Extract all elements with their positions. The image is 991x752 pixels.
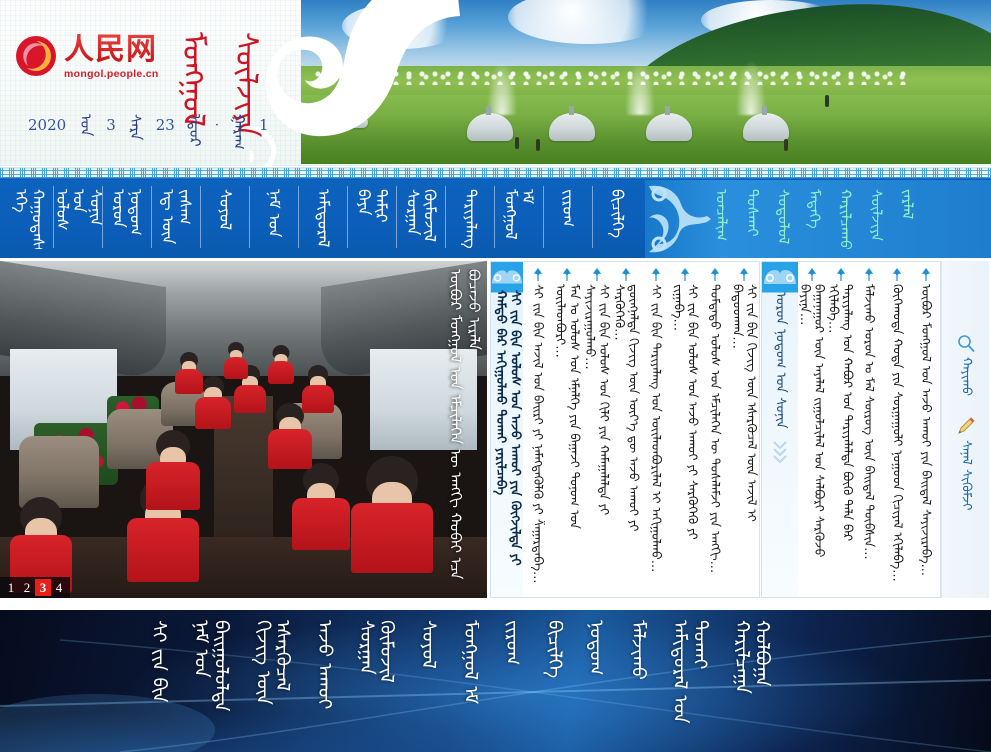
rider [536, 139, 540, 151]
bottom-channel-items: ᠰᠢ ᠵᠢᠨ ᠪᠢᠨᠨᠠᠮ ᠤᠨ ᠪᠠᠢᠭᠤᠯᠤᠯᠲᠠᠬᠢᠵᠢᠭ ᠦᠨ ᠡᠰᠡᠷ… [148, 620, 991, 748]
yurt [342, 113, 368, 128]
logo-mongolian-name: ᠮᠤᠩᠭᠤᠯ ᠰᠦᠯᠵᠢᠶᠡ [175, 32, 281, 94]
nav-item-culture[interactable]: ᠰᠣᠶᠤᠯ [200, 180, 249, 258]
bottom-channel-economy[interactable]: ᠠᠵᠤ ᠠᠬᠤᠢ [314, 620, 334, 709]
news-item-title: ᠰᠢ ᠵᠢᠨ ᠪᠢᠨ ᠲᠠᠷᠢᠶᠠᠯᠠᠩ ᠤᠨ ᠦᠢᠯᠡᠳᠪᠦᠷᠢᠯᠡᠯ ᠢ ᠠ… [649, 284, 663, 572]
rider [784, 139, 788, 151]
news-item[interactable]: ᠥᠪᠥᠷ ᠮᠣᠩᠭᠣᠯ ᠤᠨ ᠠᠵᠤ ᠠᠬᠤᠢ ᠶᠢᠨ ᠪᠠᠢᠳᠠᠯ ᠰᠠᠶᠢᠵ… [912, 262, 940, 597]
person [292, 463, 350, 551]
lead-headline-title: ᠰᠢ ᠵᠢᠨ ᠪᠢᠨ ᠤᠯᠤᠰ ᠤᠨ ᠠᠵᠤ ᠠᠬᠤᠢ ᠶᠢᠨ ᠬᠥᠭᠵᠢᠯᠲᠡ… [493, 290, 522, 590]
nav-item-label: ᠡᠬᠡ ᠬᠠᠭᠤᠳᠠᠰᠤ [12, 189, 46, 249]
search-icon [956, 333, 976, 353]
bullet-arrow-icon [710, 268, 720, 281]
bottom-channel-education[interactable]: ᠰᠤᠷᠭᠠᠨ ᠬᠦᠮᠦᠵᠢᠯ [356, 620, 396, 738]
nav-sub-item-contact[interactable]: ᠬᠠᠷᠢᠯᠴᠠᠬᠤ [829, 189, 860, 251]
carousel-page-4[interactable]: 4 [51, 579, 67, 596]
news-item-title: ᠥᠪᠥᠷ ᠮᠣᠩᠭᠣᠯ ᠤᠨ ᠠᠵᠤ ᠠᠬᠤᠢ ᠶᠢᠨ ᠪᠠᠢᠳᠠᠯ ᠰᠠᠶᠢᠵ… [919, 284, 933, 576]
nav-item-education[interactable]: ᠰᠤᠷᠭᠠᠨ ᠬᠦᠮᠦᠵᠢᠯ [396, 180, 445, 258]
more-link[interactable] [771, 429, 789, 470]
person [224, 342, 248, 380]
news-item[interactable]: ᠰᠢ ᠵᠢᠨ ᠪᠢᠨ ᠤᠯᠤᠰ ᠤᠨ ᠠᠵᠤ ᠠᠬᠤᠢ ᠶᠢ ᠰᠡᠷᠭᠦᠭᠡᠬᠦ… [671, 262, 700, 597]
bottom-channel-about-life[interactable]: ᠠᠮᠢᠳᠤᠷᠠᠯ ᠤᠨ ᠲᠤᠬᠠᠢ [669, 620, 709, 738]
news-item-title: ᠰᠢ ᠵᠢᠨ ᠪᠢᠨ ᠬᠢᠵᠢᠭ ᠦᠨ ᠡᠰᠡᠷᠭᠦᠴᠡᠯ ᠦᠨ ᠠᠵᠢᠯ ᠢ … [730, 284, 758, 584]
logo-chinese-name: 人民网 [64, 34, 159, 66]
bullet-arrow-icon [533, 268, 543, 281]
meander-pattern [0, 168, 991, 178]
person [268, 345, 294, 385]
utility-rail: ᠬᠠᠶᠢᠬᠤ ᠰᠠᠨᠠᠯ ᠰᠢᠭᠦᠮᠵᠢ [941, 261, 989, 598]
news-item[interactable]: ᠰᠢ ᠵᠢᠨ ᠪᠢᠨ ᠠᠵᠢᠯ ᠤᠨ ᠪᠠᠢᠷᠢ ᠶᠢ ᠨᠡᠮᠡᠭᠳᠡᠭᠦᠯᠬᠦ… [523, 262, 552, 597]
bullet-arrow-icon [592, 268, 602, 281]
carousel-pagination: 1234 [0, 577, 70, 598]
bullet-arrow-icon [680, 268, 690, 281]
nav-item-sports[interactable]: ᠪᠡᠶᠡ ᠲᠠᠮᠢᠷ [347, 180, 396, 258]
bottom-channel-mongolian-medicine[interactable]: ᠮᠣᠩᠭᠣᠯ ᠡᠮ [459, 620, 479, 704]
date-day: 23 [156, 116, 175, 134]
feedback-label: ᠰᠠᠨᠠᠯ ᠰᠢᠭᠦᠮᠵᠢ [958, 440, 972, 511]
nav-item-label: ᠮᠣᠩᠭᠣᠯ ᠡᠮ [502, 189, 536, 249]
nav-sub-item-network[interactable]: ᠰᠦᠯᠵᠢᠶᠡ [860, 189, 891, 251]
nav-item-photos[interactable]: ᠵᠢᠷᠤᠭ [543, 180, 592, 258]
bottom-channel-video[interactable]: ᠪᠢᠴᠢᠯᠭᠡ [543, 620, 563, 678]
bottom-channel-epidemic-control[interactable]: ᠬᠢᠵᠢᠭ ᠦᠨ ᠡᠰᠡᠷᠭᠦᠴᠡᠯ [252, 620, 292, 738]
nav-primary-items: ᠡᠬᠡ ᠬᠠᠭᠤᠳᠠᠰᠤᠤᠯᠤᠰ ᠤᠨ ᠰᠤᠨᠢᠨᠣᠷᠤᠨ ᠨᠤᠲᠤᠭᠡᠳ᠋ ᠦ… [0, 180, 641, 258]
news-item[interactable]: ᠪᠠᠭᠠᠨᠠᠭᠤᠷ ᠦᠨ ᠠᠶᠠᠯᠠᠯ ᠵᠢᠭᠤᠯᠴᠢᠯᠠᠯ ᠤᠨ ᠰᠠᠯᠪᠤᠷ… [798, 262, 826, 597]
person [351, 456, 433, 572]
bullet-arrow-icon [621, 268, 631, 281]
nav-item-life[interactable]: ᠠᠮᠢᠳᠤᠷᠠᠯ [298, 180, 347, 258]
news-item[interactable]: ᠰᠢ ᠵᠢᠨ ᠪᠢᠨ ᠲᠠᠷᠢᠶᠠᠯᠠᠩ ᠤᠨ ᠦᠢᠯᠡᠳᠪᠦᠷᠢᠯᠡᠯ ᠢ ᠠ… [641, 262, 670, 597]
news-item[interactable]: ᠰᠢ ᠵᠢᠨ ᠪᠢᠨ ᠬᠢᠵᠢᠭ ᠦᠨ ᠡᠰᠡᠷᠭᠦᠴᠡᠯ ᠦᠨ ᠠᠵᠢᠯ ᠢ … [730, 262, 759, 597]
news-item[interactable]: ᠰᠢ ᠵᠢᠨ ᠪᠢᠨ ᠤᠯᠤᠰ ᠤᠨ ᠬᠢᠯᠢ ᠶᠢᠨ ᠬᠠᠮᠠᠭᠠᠯᠠᠯᠲᠠ … [582, 262, 611, 597]
smoke [625, 61, 655, 115]
bottom-channel-party-building[interactable]: ᠨᠠᠮ ᠤᠨ ᠪᠠᠢᠭᠤᠯᠤᠯᠲᠠ [190, 620, 230, 738]
news-item-title: ᠰᠢ ᠵᠢᠨ ᠪᠢᠨ ᠤᠯᠤᠰ ᠤᠨ ᠠᠵᠤ ᠠᠬᠤᠢ ᠶᠢ ᠰᠡᠷᠭᠦᠭᠡᠬᠦ… [671, 284, 699, 584]
nav-item-video[interactable]: ᠪᠢᠴᠢᠯᠭᠡ [592, 180, 641, 258]
people-daily-logo-icon [14, 34, 58, 78]
site-header: 人民网 mongol.people.cn ᠮᠤᠩᠭᠤᠯ ᠰᠦᠯᠵᠢᠶᠡ 2020… [0, 0, 991, 166]
page-root: 人民网 mongol.people.cn ᠮᠤᠩᠭᠤᠯ ᠰᠦᠯᠵᠢᠶᠡ 2020… [0, 0, 991, 752]
nav-item-local[interactable]: ᠣᠷᠤᠨ ᠨᠤᠲᠤᠭ [102, 180, 151, 258]
search-label: ᠬᠠᠶᠢᠬᠤ [958, 357, 972, 396]
bottom-channel-culture[interactable]: ᠰᠣᠶᠤᠯ [418, 620, 438, 669]
cloud-motif-icon [492, 268, 522, 284]
cloud-motif-icon [764, 268, 796, 284]
bottom-channel-photo[interactable]: ᠵᠢᠷᠤᠭ [501, 620, 521, 665]
pencil-icon [956, 416, 976, 436]
news-item-title: ᠳ᠋ᠦᠩᠨᠡᠯᠲᠡ ᠬᠢᠵᠢᠭ ᠦᠨ ᠦᠶ᠎ᠡ ᠳᠦ ᠠᠵᠤ ᠠᠬᠤᠢ ᠶᠢ ᠰ… [612, 284, 640, 584]
date-weekday-unit: ᠭᠠᠷᠠᠭ [226, 114, 252, 136]
bullet-arrow-icon [651, 268, 661, 281]
news-item[interactable]: ᠮᠠᠨ ᠤ ᠤᠯᠤᠰ ᠤᠨ ᠡᠮᠨᠡᠯᠭᠡ ᠶᠢᠨ ᠪᠠᠭᠠᠵᠢ ᠲᠤᠨᠤᠭ ᠤ… [553, 262, 582, 597]
carousel-photo-medical-team-bus [0, 261, 487, 598]
date-separator: · [215, 118, 219, 133]
site-logo[interactable]: 人民网 mongol.people.cn ᠮᠤᠩᠭᠤᠯ ᠰᠦᠯᠵᠢᠶᠡ [14, 34, 281, 94]
nav-sub-item-special[interactable]: ᠲᠤᠰᠬᠠᠢ [736, 189, 767, 251]
nav-item-label: ᠠᠮᠢᠳᠤᠷᠠᠯ [314, 189, 331, 247]
bottom-channel-banner: ᠰᠢ ᠵᠢᠨ ᠪᠢᠨᠨᠠᠮ ᠤᠨ ᠪᠠᠢᠭᠤᠯᠤᠯᠲᠠᠬᠢᠵᠢᠭ ᠦᠨ ᠡᠰᠡᠷ… [0, 610, 991, 752]
main-navigation: ᠡᠬᠡ ᠬᠠᠭᠤᠳᠠᠰᠤᠤᠯᠤᠰ ᠤᠨ ᠰᠤᠨᠢᠨᠣᠷᠤᠨ ᠨᠤᠲᠤᠭᠡᠳ᠋ ᠦ… [0, 180, 991, 258]
nav-sub-item-label: ᠲᠤᠰᠬᠠᠢ [744, 189, 760, 249]
bullet-arrow-icon [807, 268, 817, 281]
nav-item-national-news[interactable]: ᠤᠯᠤᠰ ᠤᠨ ᠰᠤᠨᠢᠨ [53, 180, 102, 258]
nav-item-label: ᠵᠢᠷᠤᠭ [559, 189, 576, 227]
person [302, 365, 334, 413]
rider [515, 137, 519, 149]
nav-sub-item-label: ᠰᠦᠯᠵᠢᠶᠡ [868, 189, 884, 249]
news-item-title: ᠳᠤᠮᠳᠠᠳᠤ ᠤᠯᠤᠰ ᠤᠨ ᠡᠮᠴᠢᠯᠡᠭᠡᠨ ᠦ ᠲᠤᠰᠠᠯᠠᠮᠵᠢ ᠶᠢ… [708, 284, 722, 573]
nav-item-label: ᠨᠠᠮ ᠤᠨ [265, 189, 282, 238]
bottom-channel-xi-jinping[interactable]: ᠰᠢ ᠵᠢᠨ ᠪᠢᠨ [148, 620, 168, 703]
news-item[interactable]: ᠳᠤᠮᠳᠠᠳᠤ ᠤᠯᠤᠰ ᠤᠨ ᠡᠮᠴᠢᠯᠡᠭᠡᠨ ᠦ ᠲᠤᠰᠠᠯᠠᠮᠵᠢ ᠶᠢ… [700, 262, 729, 597]
section-header-local-news: ᠣᠷᠤᠨ ᠨᠤᠲᠤᠭ ᠤᠨ ᠰᠤᠨᠢᠨ [762, 262, 798, 597]
news-item[interactable]: ᠬᠦᠬᠡᠬᠤᠲᠠ ᠬᠤᠲᠠ ᠶᠢᠨ ᠰᠤᠷᠭᠠᠭᠤᠯᠢ ᠨᠤᠭᠤᠳ ᠬᠢᠴᠢᠶᠡ… [883, 262, 911, 597]
nav-item-label: ᠲᠠᠷᠢᠶᠠᠯᠠᠩ [461, 189, 478, 249]
nav-sub-item-label: ᠵᠠᠷᠯᠠᠯ [899, 189, 915, 249]
nav-item-label: ᠪᠢᠴᠢᠯᠭᠡ [608, 189, 625, 238]
bullet-arrow-icon [921, 268, 931, 281]
nav-sub-item-label: ᠮᠡᠳᠡᠭᠡ [806, 189, 822, 249]
nav-item-home[interactable]: ᠡᠬᠡ ᠬᠠᠭᠤᠳᠠᠰᠤ [4, 180, 53, 258]
lead-headline[interactable]: ᠰᠢ ᠵᠢᠨ ᠪᠢᠨ ᠤᠯᠤᠰ ᠤᠨ ᠠᠵᠤ ᠠᠬᠤᠢ ᠶᠢᠨ ᠬᠥᠭᠵᠢᠯᠲᠡ… [491, 262, 523, 597]
nav-item-label: ᠡᠳ᠋ ᠦᠨ ᠵᠠᠰᠠᠭ [159, 189, 193, 249]
bottom-channel-homeland[interactable]: ᠨᠤᠲᠤᠭ [585, 620, 605, 675]
nav-item-label: ᠰᠤᠷᠭᠠᠨ ᠬᠦᠮᠦᠵᠢᠯ [404, 189, 438, 249]
nav-sub-item-label: ᠰᠤᠳᠤᠯᠤᠯ [775, 189, 791, 249]
carousel-caption[interactable]: ᠥᠪᠥᠷ ᠮᠣᠩᠭᠣᠯ ᠤᠨ ᠡᠮᠴᠢᠯᠡᠭᠡᠨ ᠦ ᠠᠩᠭᠢ ᠬᠤᠪᠡᠢ ᠡᠴ… [446, 269, 484, 587]
grassland-banner-photo [301, 0, 991, 164]
news-item-title: ᠰᠢ ᠵᠢᠨ ᠪᠢᠨ ᠠᠵᠢᠯ ᠤᠨ ᠪᠠᠢᠷᠢ ᠶᠢ ᠨᠡᠮᠡᠭᠳᠡᠭᠦᠯᠬᠦ… [531, 284, 545, 584]
nav-sub-item-label: ᠣᠨᠴᠠᠯᠢᠭ [713, 189, 729, 249]
nav-item-agriculture[interactable]: ᠲᠠᠷᠢᠶᠠᠯᠠᠩ [445, 180, 494, 258]
nav-sub-item-announcement[interactable]: ᠵᠠᠷᠯᠠᠯ [891, 189, 922, 251]
news-item-title: ᠪᠠᠭᠠᠨᠠᠭᠤᠷ ᠦᠨ ᠠᠶᠠᠯᠠᠯ ᠵᠢᠭᠤᠯᠴᠢᠯᠠᠯ ᠤᠨ ᠰᠠᠯᠪᠤᠷ… [798, 284, 826, 584]
person [146, 430, 200, 510]
nav-item-label: ᠪᠡᠶᠡ ᠲᠠᠮᠢᠷ [355, 189, 389, 249]
rider [825, 95, 829, 107]
nav-item-label: ᠣᠷᠤᠨ ᠨᠤᠲᠤᠭ [110, 189, 144, 249]
news-item-title: ᠬᠦᠬᠡᠬᠤᠲᠠ ᠬᠤᠲᠠ ᠶᠢᠨ ᠰᠤᠷᠭᠠᠭᠤᠯᠢ ᠨᠤᠭᠤᠳ ᠬᠢᠴᠢᠶᠡ… [890, 284, 904, 582]
bottom-channel-contact[interactable]: ᠬᠠᠷᠢᠯᠴᠠᠭᠠ ᠬᠤᠯᠪᠤᠭᠠ [731, 620, 771, 738]
photo-carousel[interactable]: ᠥᠪᠥᠷ ᠮᠣᠩᠭᠣᠯ ᠤᠨ ᠡᠮᠴᠢᠯᠡᠭᠡᠨ ᠦ ᠠᠩᠭᠢ ᠬᠤᠪᠡᠢ ᠡᠴ… [0, 261, 487, 598]
nav-sub-item-research[interactable]: ᠰᠤᠳᠤᠯᠤᠯ [767, 189, 798, 251]
chevron-double-down-icon [771, 439, 789, 465]
bullet-arrow-icon [864, 268, 874, 281]
news-item-title: ᠲᠠᠷᠢᠶᠠᠯᠠᠩ ᠤᠨ ᠬᠠᠪᠤᠷ ᠤᠨ ᠲᠠᠷᠢᠶᠠᠯᠠᠯᠲᠠ ᠪᠦᠬᠦ ᠲ… [827, 284, 855, 584]
nav-item-mongolian-medicine[interactable]: ᠮᠣᠩᠭᠣᠯ ᠡᠮ [494, 180, 543, 258]
search-button[interactable]: ᠬᠠᠶᠢᠬᠤ [956, 333, 976, 396]
nav-item-economy[interactable]: ᠡᠳ᠋ ᠦᠨ ᠵᠠᠰᠠᠭ [151, 180, 200, 258]
main-content-row: ᠥᠪᠥᠷ ᠮᠣᠩᠭᠣᠯ ᠤᠨ ᠡᠮᠴᠢᠯᠡᠭᠡᠨ ᠦ ᠠᠩᠭᠢ ᠬᠤᠪᠡᠢ ᠡᠴ… [0, 261, 991, 599]
bullet-arrow-icon [739, 268, 749, 281]
logo-domain: mongol.people.cn [64, 68, 159, 80]
bottom-channel-herding[interactable]: ᠮᠠᠯᠵᠢᠬᠤ [627, 620, 647, 680]
bullet-arrow-icon [892, 268, 902, 281]
person [175, 352, 203, 394]
nav-item-label: ᠰᠣᠶᠤᠯ [216, 189, 233, 230]
feedback-button[interactable]: ᠰᠠᠨᠠᠯ ᠰᠢᠭᠦᠮᠵᠢ [956, 416, 976, 511]
logo-text-block: 人民网 mongol.people.cn [64, 34, 159, 80]
nav-item-party[interactable]: ᠨᠠᠮ ᠤᠨ [249, 180, 298, 258]
date-year: 2020 [28, 116, 66, 134]
date-year-unit: ᠣᠨ [73, 114, 99, 136]
date-bar: 2020 ᠣᠨ 3 ᠰᠠᠷᠠ 23 ᠡᠳᠦᠷ · ᠭᠠᠷᠠᠭ 1 [28, 114, 269, 136]
news-item-title: ᠰᠢ ᠵᠢᠨ ᠪᠢᠨ ᠤᠯᠤᠰ ᠤᠨ ᠬᠢᠯᠢ ᠶᠢᠨ ᠬᠠᠮᠠᠭᠠᠯᠠᠯᠲᠠ … [583, 284, 611, 584]
news-item[interactable]: ᠮᠠᠯᠵᠢᠬᠤ ᠣᠷᠤᠨ ᠤ ᠮᠠᠯ ᠰᠦᠷᠦᠭ ᠦᠨ ᠪᠠᠢᠳᠠᠯ ᠲᠦᠪᠰᠢ… [855, 262, 883, 597]
sheep-flock [315, 71, 908, 86]
section-title: ᠣᠷᠤᠨ ᠨᠤᠲᠤᠭ ᠤᠨ ᠰᠤᠨᠢᠨ [772, 292, 788, 429]
nav-sub-item-notice[interactable]: ᠮᠡᠳᠡᠭᠡ [798, 189, 829, 251]
news-panel-headlines: ᠰᠢ ᠵᠢᠨ ᠪᠢᠨ ᠬᠢᠵᠢᠭ ᠦᠨ ᠡᠰᠡᠷᠭᠦᠴᠡᠯ ᠦᠨ ᠠᠵᠢᠯ ᠢ … [490, 261, 760, 598]
nav-cloud-swirl-icon [647, 182, 711, 256]
news-panel-local: ᠥᠪᠥᠷ ᠮᠣᠩᠭᠣᠯ ᠤᠨ ᠠᠵᠤ ᠠᠬᠤᠢ ᠶᠢᠨ ᠪᠠᠢᠳᠠᠯ ᠰᠠᠶᠢᠵ… [761, 261, 941, 598]
bullet-arrow-icon [562, 268, 572, 281]
carousel-page-1[interactable]: 1 [3, 579, 19, 596]
date-day-unit: ᠡᠳᠦᠷ [182, 114, 208, 136]
news-item-title: ᠮᠠᠨ ᠤ ᠤᠯᠤᠰ ᠤᠨ ᠡᠮᠨᠡᠯᠭᠡ ᠶᠢᠨ ᠪᠠᠭᠠᠵᠢ ᠲᠤᠨᠤᠭ ᠤ… [553, 284, 581, 584]
date-month-unit: ᠰᠠᠷᠠ [123, 114, 149, 136]
nav-item-label: ᠤᠯᠤᠰ ᠤᠨ ᠰᠤᠨᠢᠨ [53, 189, 102, 249]
date-month: 3 [106, 116, 116, 134]
news-item[interactable]: ᠳ᠋ᠦᠩᠨᠡᠯᠲᠡ ᠬᠢᠵᠢᠭ ᠦᠨ ᠦᠶ᠎ᠡ ᠳᠦ ᠠᠵᠤ ᠠᠬᠤᠢ ᠶᠢ ᠰ… [612, 262, 641, 597]
meander-border [0, 166, 991, 180]
nav-secondary-panel: ᠣᠨᠴᠠᠯᠢᠭᠲᠤᠰᠬᠠᠢᠰᠤᠳᠤᠯᠤᠯᠮᠡᠳᠡᠭᠡᠬᠠᠷᠢᠯᠴᠠᠬᠤᠰᠦᠯᠵᠢ… [645, 180, 991, 258]
carousel-page-3[interactable]: 3 [35, 579, 51, 596]
bullet-arrow-icon [836, 268, 846, 281]
date-weekday: 1 [259, 116, 269, 134]
news-item[interactable]: ᠲᠠᠷᠢᠶᠠᠯᠠᠩ ᠤᠨ ᠬᠠᠪᠤᠷ ᠤᠨ ᠲᠠᠷᠢᠶᠠᠯᠠᠯᠲᠠ ᠪᠦᠬᠦ ᠲ… [826, 262, 854, 597]
news-item-title: ᠮᠠᠯᠵᠢᠬᠤ ᠣᠷᠤᠨ ᠤ ᠮᠠᠯ ᠰᠦᠷᠦᠭ ᠦᠨ ᠪᠠᠢᠳᠠᠯ ᠲᠦᠪᠰᠢ… [862, 284, 876, 560]
nav-sub-item-label: ᠬᠠᠷᠢᠯᠴᠠᠬᠤ [837, 189, 853, 249]
smoke [487, 61, 517, 115]
carousel-page-2[interactable]: 2 [19, 579, 35, 596]
